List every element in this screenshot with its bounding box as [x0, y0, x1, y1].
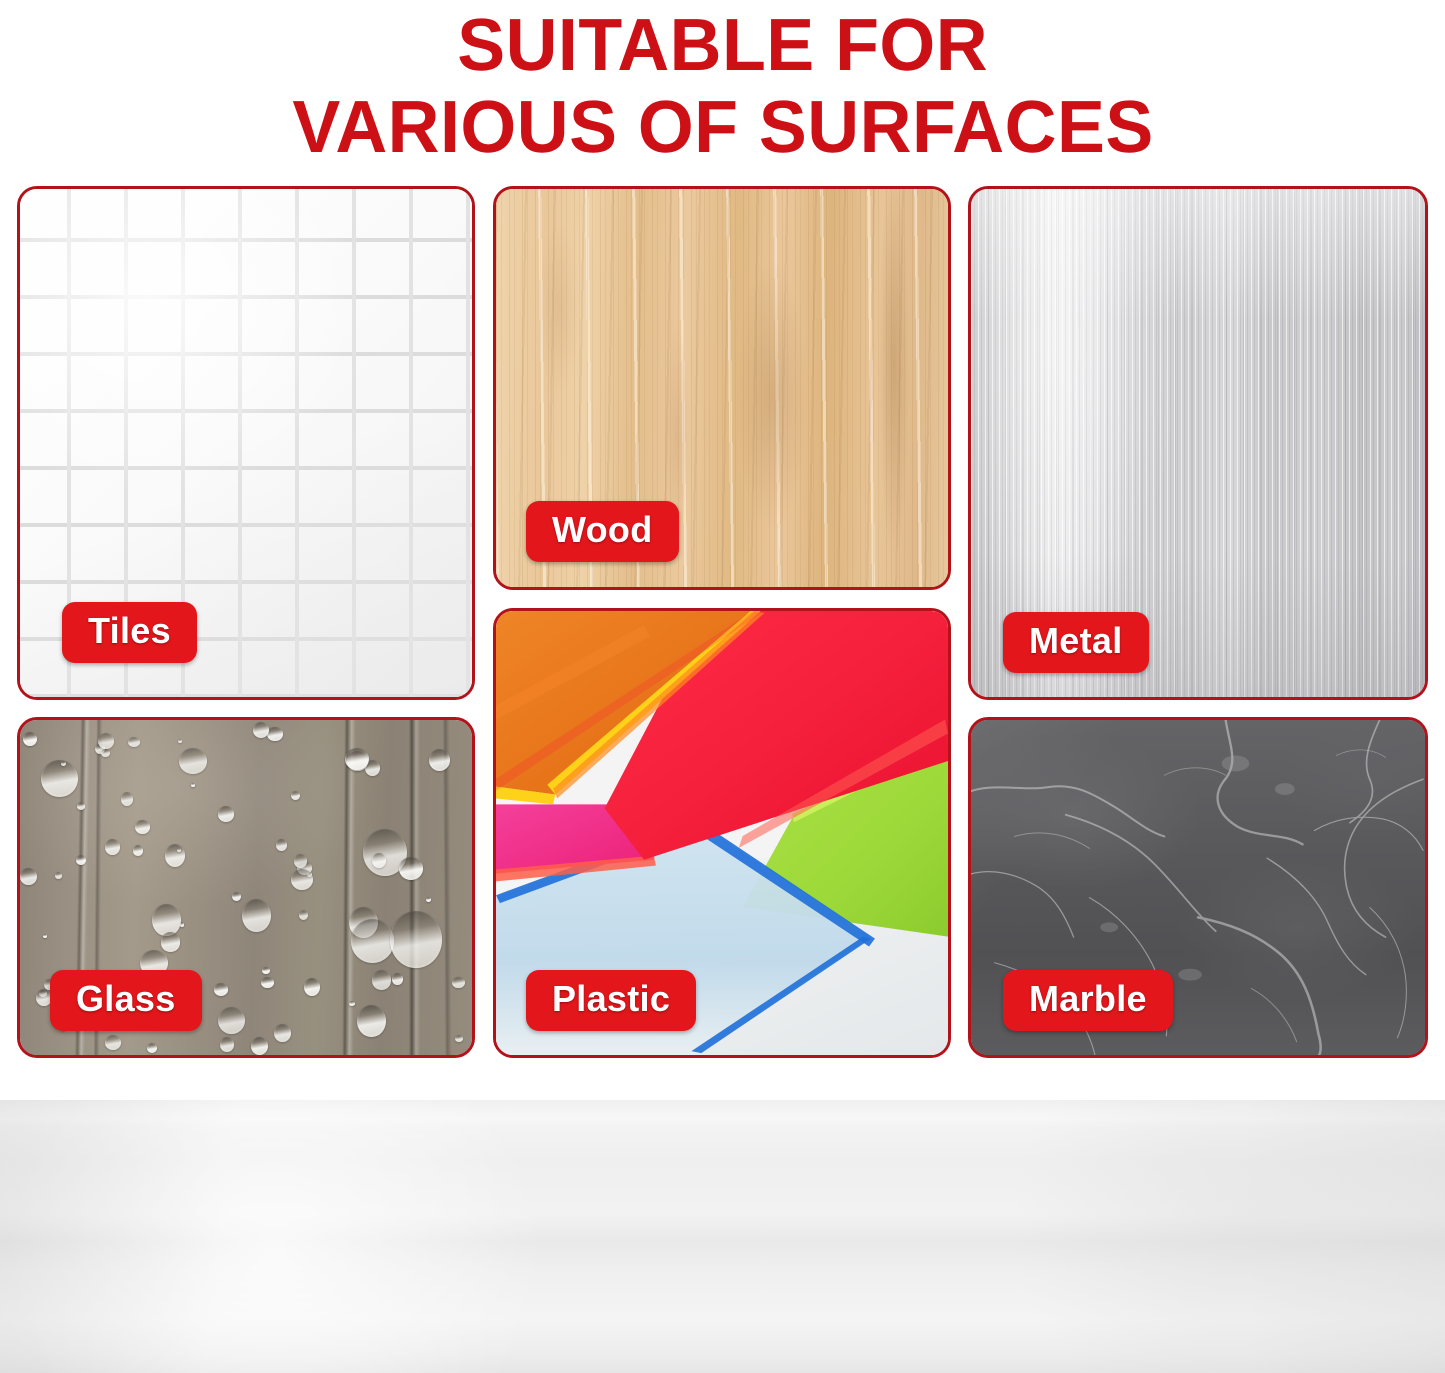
- water-droplet: [351, 919, 395, 963]
- water-droplet: [214, 983, 228, 996]
- surface-label-plastic: Plastic: [526, 970, 696, 1031]
- water-droplet: [43, 934, 48, 939]
- water-droplet: [267, 727, 283, 742]
- water-droplet: [20, 868, 36, 885]
- surface-label-glass: Glass: [50, 970, 202, 1031]
- water-droplet: [357, 1005, 386, 1038]
- water-droplet: [76, 855, 86, 865]
- surface-label-tiles: Tiles: [62, 602, 197, 663]
- water-droplet: [372, 970, 391, 990]
- water-droplet: [55, 872, 62, 878]
- water-droplet: [105, 839, 120, 855]
- water-droplet: [23, 732, 38, 747]
- water-droplet: [218, 806, 235, 822]
- product-surface-shading: [0, 1100, 1445, 1373]
- surface-panel-wood[interactable]: Wood: [493, 186, 951, 590]
- water-droplet: [242, 899, 271, 932]
- title-line-2: VARIOUS OF SURFACES: [292, 86, 1153, 168]
- water-droplet: [161, 932, 181, 951]
- surface-panel-plastic[interactable]: Plastic: [493, 608, 951, 1058]
- water-droplet: [121, 792, 133, 806]
- water-droplet: [390, 911, 442, 967]
- water-droplet: [299, 910, 308, 920]
- water-droplet: [178, 739, 182, 743]
- water-droplet: [133, 845, 143, 856]
- surface-panel-grid: Tiles Wood Metal Glass: [17, 186, 1428, 1058]
- water-droplet: [455, 1035, 463, 1042]
- surface-panel-metal[interactable]: Metal: [968, 186, 1428, 700]
- water-droplet: [274, 1024, 291, 1042]
- water-droplet: [426, 897, 431, 902]
- surface-panel-tiles[interactable]: Tiles: [17, 186, 475, 700]
- water-droplet: [232, 892, 241, 901]
- water-droplet: [262, 967, 270, 974]
- water-droplet: [276, 839, 287, 851]
- surface-panel-marble[interactable]: Marble: [968, 717, 1428, 1058]
- product-surface-band: [0, 1100, 1445, 1373]
- water-droplet: [452, 977, 464, 988]
- water-droplet: [147, 1043, 157, 1053]
- water-droplet: [165, 844, 185, 867]
- water-droplet: [345, 748, 369, 770]
- water-droplet: [253, 722, 269, 738]
- water-droplet: [77, 802, 85, 810]
- water-droplet: [191, 783, 195, 787]
- water-droplet: [135, 820, 150, 834]
- title-line-1: SUITABLE FOR: [457, 4, 988, 86]
- water-droplet: [304, 978, 321, 997]
- water-droplet: [218, 1007, 245, 1035]
- water-droplet: [392, 973, 404, 985]
- water-droplet: [128, 737, 140, 748]
- water-droplet: [41, 760, 78, 797]
- band-separator: [0, 1058, 1445, 1100]
- surface-label-marble: Marble: [1003, 970, 1173, 1031]
- water-droplet: [429, 749, 450, 771]
- water-droplet: [261, 977, 274, 989]
- page-title: SUITABLE FOR VARIOUS OF SURFACES: [0, 0, 1445, 172]
- water-droplet: [251, 1037, 268, 1055]
- water-droplet: [101, 749, 110, 757]
- water-droplet: [349, 1001, 355, 1006]
- water-droplet: [105, 1035, 122, 1050]
- surface-panel-glass[interactable]: Glass: [17, 717, 475, 1058]
- water-droplet: [399, 857, 423, 880]
- water-droplet: [179, 748, 207, 774]
- water-droplet: [291, 869, 314, 890]
- water-droplet: [98, 733, 115, 749]
- surface-label-metal: Metal: [1003, 612, 1149, 673]
- water-droplet: [220, 1037, 234, 1052]
- surface-label-wood: Wood: [526, 501, 679, 562]
- water-droplet: [291, 791, 300, 801]
